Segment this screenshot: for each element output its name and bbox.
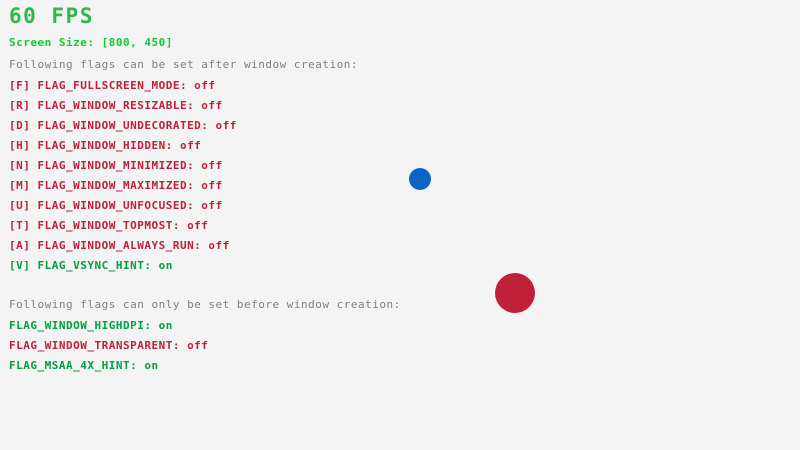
red-ball — [495, 273, 535, 313]
flag-line-flag-msaa-4x-hint[interactable]: FLAG_MSAA_4X_HINT: on — [9, 360, 159, 371]
blue-ball — [409, 168, 431, 190]
flag-line-flag-window-hidden[interactable]: [H] FLAG_WINDOW_HIDDEN: off — [9, 140, 201, 151]
flag-line-flag-window-transparent[interactable]: FLAG_WINDOW_TRANSPARENT: off — [9, 340, 208, 351]
flag-line-flag-window-undecorated[interactable]: [D] FLAG_WINDOW_UNDECORATED: off — [9, 120, 237, 131]
flag-line-flag-window-highdpi[interactable]: FLAG_WINDOW_HIGHDPI: on — [9, 320, 173, 331]
application-window: 60 FPS Screen Size: [800, 450] Following… — [0, 0, 800, 450]
flag-line-flag-fullscreen-mode[interactable]: [F] FLAG_FULLSCREEN_MODE: off — [9, 80, 216, 91]
flag-line-flag-window-maximized[interactable]: [M] FLAG_WINDOW_MAXIMIZED: off — [9, 180, 223, 191]
hud-overlay: 60 FPS Screen Size: [800, 450] Following… — [0, 0, 800, 450]
screen-size-label: Screen Size: [800, 450] — [9, 37, 173, 48]
flag-line-flag-window-unfocused[interactable]: [U] FLAG_WINDOW_UNFOCUSED: off — [9, 200, 223, 211]
flag-line-flag-vsync-hint[interactable]: [V] FLAG_VSYNC_HINT: on — [9, 260, 173, 271]
fps-counter: 60 FPS — [9, 6, 94, 27]
flag-line-flag-window-resizable[interactable]: [R] FLAG_WINDOW_RESIZABLE: off — [9, 100, 223, 111]
flag-line-flag-window-always-run[interactable]: [A] FLAG_WINDOW_ALWAYS_RUN: off — [9, 240, 230, 251]
flag-line-flag-window-topmost[interactable]: [T] FLAG_WINDOW_TOPMOST: off — [9, 220, 208, 231]
flag-line-flag-window-minimized[interactable]: [N] FLAG_WINDOW_MINIMIZED: off — [9, 160, 223, 171]
section-header-after-creation: Following flags can be set after window … — [9, 59, 358, 70]
section-header-before-creation: Following flags can only be set before w… — [9, 299, 401, 310]
